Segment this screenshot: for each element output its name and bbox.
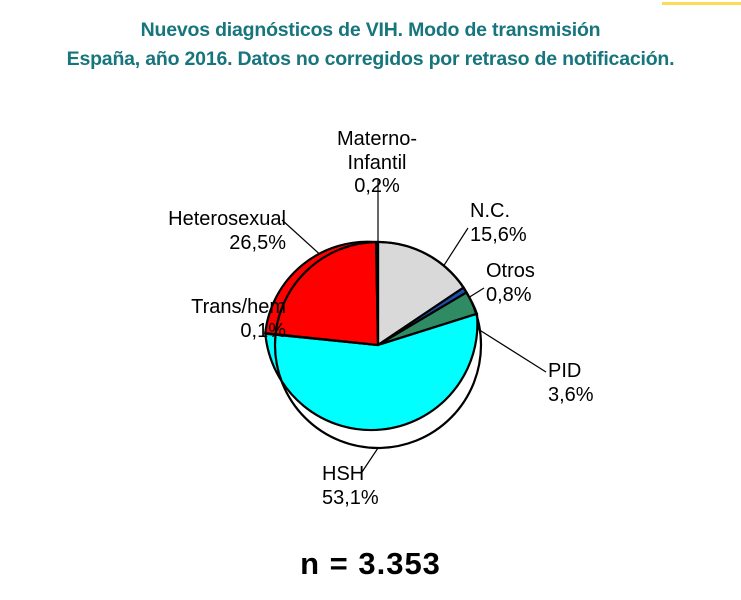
pie-label-trans-hem: Trans/hem 0,1%	[104, 296, 286, 343]
pie-label-materno-infantil-name-2: Infantil	[309, 152, 445, 176]
chart-title-line-2: España, año 2016. Datos no corregidos po…	[0, 45, 741, 74]
pie-label-otros-value: 0,8%	[486, 284, 622, 308]
pie-label-hsh-value: 53,1%	[322, 487, 482, 511]
pie-chart: Materno- Infantil 0,2% Heterosexual 26,5…	[0, 100, 741, 540]
pie-label-heterosexual: Heterosexual 26,5%	[104, 208, 286, 255]
chart-title-line-1: Nuevos diagnósticos de VIH. Modo de tran…	[0, 16, 741, 45]
pie-label-nc: N.C. 15,6%	[470, 200, 606, 247]
pie-slices	[265, 242, 477, 430]
pie-label-materno-infantil-value: 0,2%	[309, 175, 445, 199]
pie-label-nc-value: 15,6%	[470, 224, 606, 248]
pie-label-materno-infantil-name-1: Materno-	[309, 128, 445, 152]
pie-label-pid: PID 3,6%	[548, 360, 684, 407]
pie-label-nc-name: N.C.	[470, 200, 606, 224]
pie-label-heterosexual-name: Heterosexual	[104, 208, 286, 232]
top-accent-rule	[662, 2, 741, 5]
pie-label-hsh-name: HSH	[322, 463, 482, 487]
chart-title: Nuevos diagnósticos de VIH. Modo de tran…	[0, 16, 741, 74]
pie-label-pid-value: 3,6%	[548, 384, 684, 408]
pie-label-otros-name: Otros	[486, 260, 622, 284]
pie-label-pid-name: PID	[548, 360, 684, 384]
pie-label-trans-hem-name: Trans/hem	[104, 296, 286, 320]
sample-size-label: n = 3.353	[0, 546, 741, 582]
pie-label-materno-infantil: Materno- Infantil 0,2%	[309, 128, 445, 199]
pie-label-trans-hem-value: 0,1%	[104, 320, 286, 344]
pie-label-hsh: HSH 53,1%	[322, 463, 482, 510]
pie-label-heterosexual-value: 26,5%	[104, 232, 286, 256]
pie-label-otros: Otros 0,8%	[486, 260, 622, 307]
